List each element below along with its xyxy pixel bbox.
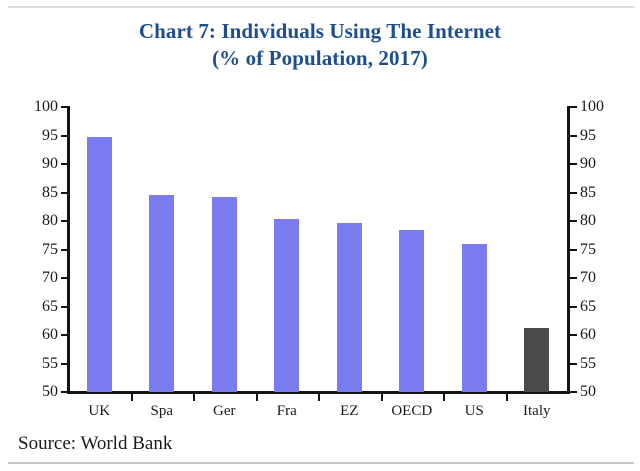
y-axis-left-tick xyxy=(61,306,68,308)
y-axis-left-tick xyxy=(61,391,68,393)
x-axis-label-us: US xyxy=(443,402,506,420)
y-axis-left-tick xyxy=(61,192,68,194)
y-axis-left-label: 80 xyxy=(22,213,58,229)
bar-us xyxy=(462,244,487,392)
y-axis-right-tick xyxy=(570,192,577,194)
y-axis-right-tick xyxy=(570,277,577,279)
y-axis-left-label: 55 xyxy=(22,356,58,372)
y-axis-left-tick xyxy=(61,135,68,137)
x-axis-tick xyxy=(506,394,508,401)
x-axis-label-spa: Spa xyxy=(131,402,194,420)
plot-area xyxy=(68,107,568,392)
y-axis-right-label: 80 xyxy=(580,213,616,229)
x-axis-tick xyxy=(318,394,320,401)
y-axis-right-tick xyxy=(570,249,577,251)
bar-spa xyxy=(149,195,174,392)
y-axis-right-tick xyxy=(570,163,577,165)
y-axis-right-label: 70 xyxy=(580,270,616,286)
x-axis-label-uk: UK xyxy=(68,402,131,420)
y-axis-right-tick xyxy=(570,363,577,365)
y-axis-left-tick xyxy=(61,220,68,222)
y-axis-left-tick xyxy=(61,249,68,251)
y-axis-right-tick xyxy=(570,391,577,393)
y-axis-left-label: 70 xyxy=(22,270,58,286)
x-axis-label-ez: EZ xyxy=(318,402,381,420)
y-axis-left-tick xyxy=(61,334,68,336)
y-axis-left-label: 75 xyxy=(22,242,58,258)
top-divider xyxy=(8,6,634,8)
y-axis-right-label: 90 xyxy=(580,156,616,172)
x-axis-label-oecd: OECD xyxy=(381,402,444,420)
y-axis-right-tick xyxy=(570,220,577,222)
y-axis-right-tick xyxy=(570,106,577,108)
y-axis-right-tick xyxy=(570,306,577,308)
y-axis-left-tick xyxy=(61,277,68,279)
bar-ger xyxy=(212,197,237,392)
y-axis-right-label: 50 xyxy=(580,384,616,400)
bar-uk xyxy=(87,137,112,392)
y-axis-left-label: 90 xyxy=(22,156,58,172)
x-axis-label-ger: Ger xyxy=(193,402,256,420)
y-axis-right-label: 60 xyxy=(580,327,616,343)
chart-subtitle: (% of Population, 2017) xyxy=(0,45,640,72)
y-axis-right-label: 65 xyxy=(580,299,616,315)
y-axis-left-tick xyxy=(61,163,68,165)
chart-page: Chart 7: Individuals Using The Internet … xyxy=(0,0,640,471)
bar-fra xyxy=(274,219,299,392)
y-axis-left-label: 60 xyxy=(22,327,58,343)
y-axis-right-label: 55 xyxy=(580,356,616,372)
y-axis-right-tick xyxy=(570,334,577,336)
bar-oecd xyxy=(399,230,424,392)
bar-ez xyxy=(337,223,362,392)
bottom-divider xyxy=(8,462,634,464)
y-axis-left-label: 100 xyxy=(22,99,58,115)
y-axis-left-label: 85 xyxy=(22,185,58,201)
y-axis-right-label: 95 xyxy=(580,128,616,144)
y-axis-left-label: 95 xyxy=(22,128,58,144)
y-axis-left-label: 50 xyxy=(22,384,58,400)
x-axis-tick xyxy=(443,394,445,401)
x-axis-tick xyxy=(193,394,195,401)
y-axis-right-label: 100 xyxy=(580,99,616,115)
bar-italy xyxy=(524,328,549,392)
x-axis-tick xyxy=(381,394,383,401)
chart-title: Chart 7: Individuals Using The Internet … xyxy=(0,18,640,72)
x-axis-label-italy: Italy xyxy=(506,402,569,420)
y-axis-right-label: 85 xyxy=(580,185,616,201)
y-axis-right-tick xyxy=(570,135,577,137)
y-axis-right-label: 75 xyxy=(580,242,616,258)
y-axis-left-tick xyxy=(61,106,68,108)
source-label: Source: World Bank xyxy=(18,432,172,456)
x-axis-tick xyxy=(256,394,258,401)
x-axis-label-fra: Fra xyxy=(256,402,319,420)
x-axis-tick xyxy=(131,394,133,401)
y-axis-left-label: 65 xyxy=(22,299,58,315)
chart-title-line-1: Chart 7: Individuals Using The Internet xyxy=(0,18,640,45)
y-axis-left-tick xyxy=(61,363,68,365)
